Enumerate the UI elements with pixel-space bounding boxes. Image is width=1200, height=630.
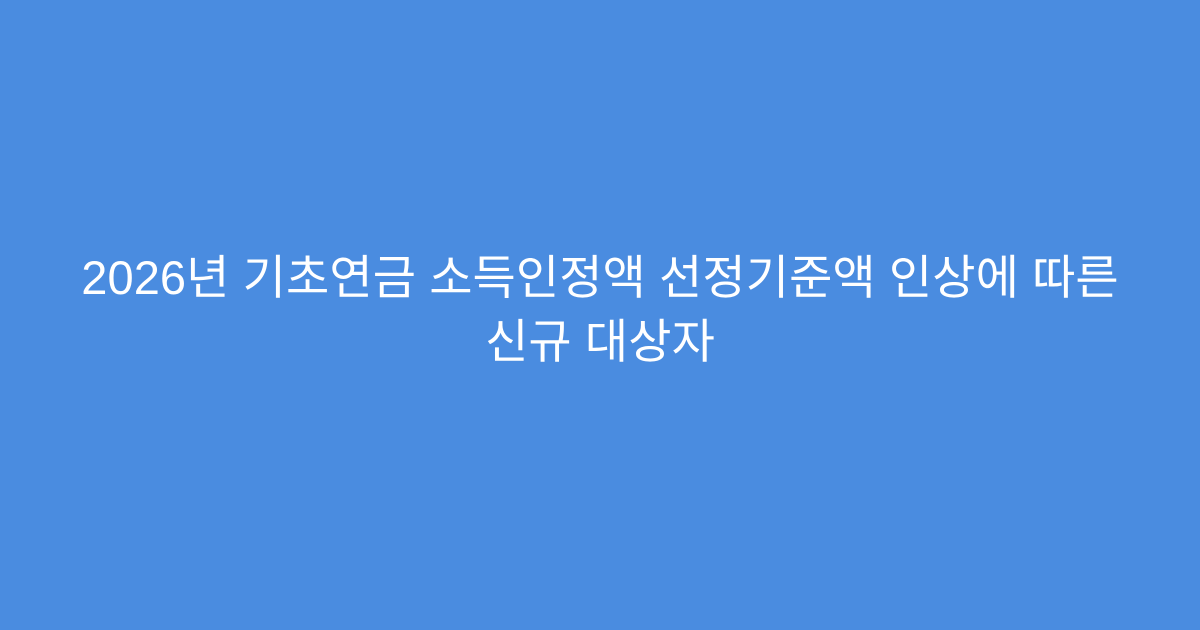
title-block: 2026년 기초연금 소득인정액 선정기준액 인상에 따른 신규 대상자 (0, 246, 1200, 374)
page-title: 2026년 기초연금 소득인정액 선정기준액 인상에 따른 신규 대상자 (60, 246, 1140, 374)
og-card: 2026년 기초연금 소득인정액 선정기준액 인상에 따른 신규 대상자 (0, 0, 1200, 630)
